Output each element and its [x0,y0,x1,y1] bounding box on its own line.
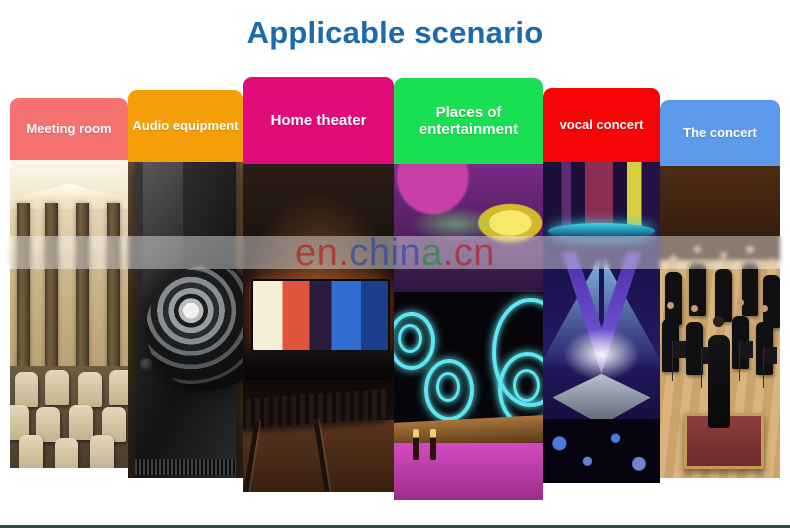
panel-photo-audio-equipment [128,162,243,478]
chair-rows [10,366,128,468]
panel-header-home-theater: Home theater [243,77,394,164]
panel-photo-home-theater [243,164,394,492]
scenario-panel-home-theater[interactable]: Home theater [243,77,394,492]
audience-crowd [543,419,660,483]
scenario-panel-vocal-concert[interactable]: vocal concert [543,88,660,483]
stage-platform [552,374,650,425]
panel-header-places-of-entertainment: Places of entertainment [394,78,543,164]
musician [715,269,732,322]
panel-photo-vocal-concert [543,162,660,483]
concert-stage-scene [543,162,660,483]
conference-hall-scene [10,160,128,468]
center-spotlight [564,329,639,380]
chair [69,405,93,440]
watermark-part: chin [349,232,421,274]
orchestra-scene [660,166,780,478]
panel-photo-meeting-room [10,160,128,468]
neon-ring [436,372,460,402]
chair [10,405,29,440]
neon-ring [513,369,540,402]
panel-header-audio-equipment: Audio equipment [128,90,243,162]
scenario-panel-places-of-entertainment[interactable]: Places of entertainment [394,78,543,500]
bottle [430,429,436,459]
scenario-panel-the-concert[interactable]: The concert [660,100,780,478]
music-stand [739,341,753,382]
scenario-panel-audio-equipment[interactable]: Audio equipment [128,90,243,478]
scenario-collage-page: Applicable scenario Meeting room [0,0,790,530]
panel-photo-the-concert [660,166,780,478]
panel-header-meeting-room: Meeting room [10,98,128,160]
watermark-part: .cn [443,232,495,274]
watermark-text: en.china.cn [0,232,790,275]
chair [55,438,79,469]
panel-header-the-concert: The concert [660,100,780,166]
tv-console [246,354,391,380]
chair [19,435,43,468]
music-stand [672,341,686,382]
chair [78,372,102,407]
chair [90,435,114,468]
bottle [413,429,419,459]
television-screen [251,279,391,352]
bass-port [140,358,153,371]
scenario-panel-meeting-room[interactable]: Meeting room [10,98,128,468]
bottom-divider [0,525,790,528]
loudspeaker-scene [128,162,243,478]
panel-header-vocal-concert: vocal concert [543,88,660,162]
musician [763,275,780,328]
chair [15,372,39,407]
musician [665,272,682,325]
conductor [708,335,730,429]
led-backdrop-screen [543,162,660,226]
ceiling [10,160,128,209]
watermark-part: a [421,232,443,274]
panel-photo-places-of-entertainment [394,164,543,500]
music-stand [763,347,777,388]
chair [109,370,128,405]
nightclub-scene [394,164,543,500]
chair [45,370,69,405]
home-theater-scene [243,164,394,492]
watermark-part: en. [295,232,349,274]
speaker-base-grill [135,459,236,475]
